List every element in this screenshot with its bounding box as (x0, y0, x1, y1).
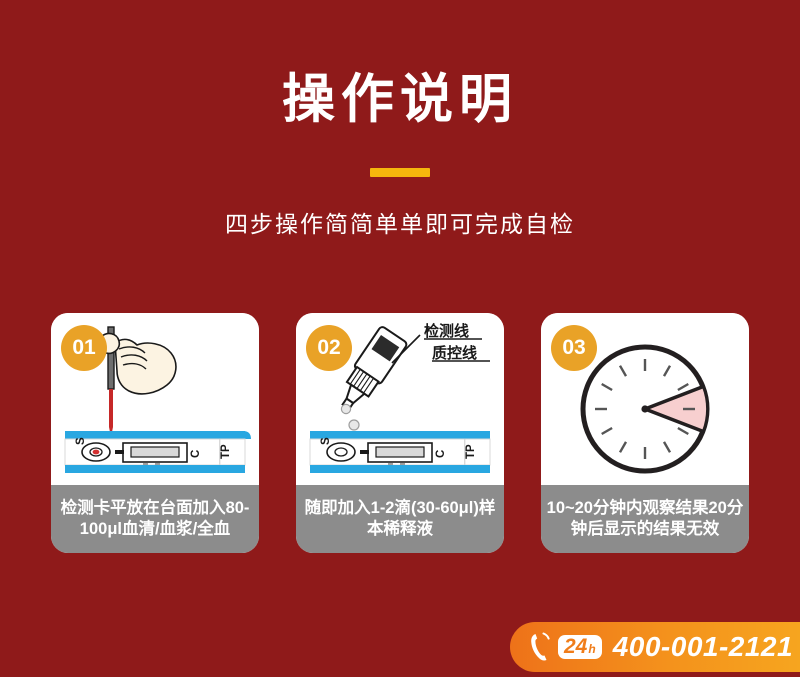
step-card-03[interactable]: 03 10~20分钟内观察结果20分钟后显示的结果无效 (541, 313, 749, 553)
mark-tp: TP (465, 444, 477, 459)
steps-container: S C TP 01 检测卡平放在台面加入80-100μl血清/血浆/全血 (51, 313, 761, 553)
mark-s: S (75, 437, 87, 445)
24h-badge-main: 24 (564, 636, 587, 657)
phone-handset-icon (528, 632, 552, 662)
mark-s: S (320, 437, 332, 445)
test-card-strip: S C TP (65, 431, 251, 473)
hotline-bar[interactable]: 24 h 400-001-2121 (510, 622, 800, 672)
step-number-badge-03: 03 (551, 325, 597, 371)
mark-c: C (190, 450, 202, 458)
step-number-badge-02: 02 (306, 325, 352, 371)
step-caption-02: 随即加入1-2滴(30-60μl)样本稀释液 (296, 485, 504, 553)
drop-2 (349, 420, 359, 430)
page-title: 操作说明 (0, 70, 800, 131)
step-card-02[interactable]: 检测线 质控线 S C (296, 313, 504, 553)
step-card-01[interactable]: S C TP 01 检测卡平放在台面加入80-100μl血清/血浆/全血 (51, 313, 259, 553)
24h-badge: 24 h (558, 635, 602, 659)
step-caption-01: 检测卡平放在台面加入80-100μl血清/血浆/全血 (51, 485, 259, 553)
annotation-control-line: 质控线 (432, 344, 477, 362)
mark-c: C (435, 450, 447, 458)
24h-badge-sub: h (588, 643, 595, 655)
step-number-badge-01: 01 (61, 325, 107, 371)
promo-page: 操作说明 四步操作简简单单即可完成自检 (0, 0, 800, 677)
annotation-test-line: 检测线 (424, 322, 469, 340)
title-divider (370, 168, 430, 177)
hotline-number: 400-001-2121 (613, 631, 793, 663)
mark-tp: TP (220, 444, 232, 459)
page-subtitle: 四步操作简简单单即可完成自检 (0, 205, 800, 239)
test-card-strip: S C TP (310, 431, 490, 473)
step-caption-03: 10~20分钟内观察结果20分钟后显示的结果无效 (541, 485, 749, 553)
drop-1 (341, 404, 350, 413)
